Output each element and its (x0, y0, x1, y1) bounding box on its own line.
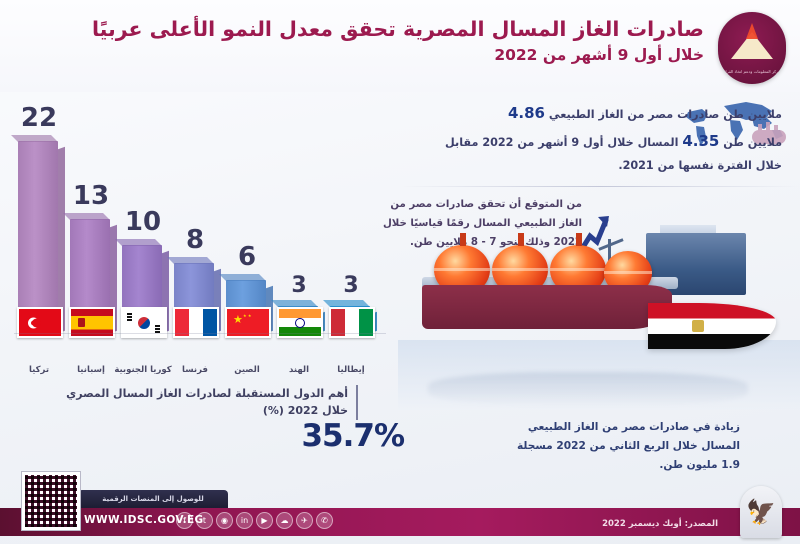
bar-category-label: إيطاليا (320, 365, 382, 376)
stat-top-text-c: ملايين طن (723, 136, 782, 149)
stat-bottom-line1: زيادة في صادرات مصر من الغاز الطبيعي (410, 418, 740, 437)
section-divider (400, 186, 800, 187)
bar-top (219, 274, 266, 281)
ship-crane-arm-icon (598, 238, 623, 251)
header: صادرات الغاز المسال المصرية تحقق معدل ال… (0, 0, 800, 92)
bar-chart: 22تركيا13إسبانيا10كوريا الجنوبية8فرنسا6ا… (0, 92, 398, 452)
stat-middle-line1: من المتوقع أن تحقق صادرات مصر من (362, 196, 582, 215)
stat-bottom-line2: المسال خلال الربع الثاني من 2022 مسجلة (410, 437, 740, 456)
lng-tanker-ship (398, 225, 800, 410)
facebook-icon[interactable]: f (176, 512, 193, 529)
bar-top (167, 257, 214, 264)
infographic-page: صادرات الغاز المسال المصرية تحقق معدل ال… (0, 0, 800, 544)
page-title: صادرات الغاز المسال المصرية تحقق معدل ال… (104, 18, 704, 64)
source-label: المصدر: أوبك ديسمبر 2022 (602, 519, 718, 529)
logo-caption: مركز المعلومات ودعم اتخاذ القرار (718, 69, 786, 75)
stat-bottom-percent: 35.7% (301, 418, 404, 454)
qr-code-icon[interactable] (22, 472, 80, 530)
bar-value-label: 22 (9, 103, 69, 133)
stat-top-block: ملايين طن صادرات مصر من الغاز الطبيعي 4.… (362, 100, 782, 176)
soundcloud-icon[interactable]: ☁ (276, 512, 293, 529)
stat-top-value-current: 4.86 (508, 104, 545, 122)
chart-baseline (14, 333, 386, 334)
bar-group: 22تركيا13إسبانيا10كوريا الجنوبية8فرنسا6ا… (14, 102, 384, 332)
title-main: صادرات الغاز المسال المصرية تحقق معدل ال… (104, 18, 704, 42)
idsc-logo: مركز المعلومات ودعم اتخاذ القرار (718, 12, 786, 84)
twitter-icon[interactable]: t (196, 512, 213, 529)
footer: للوصول إلى المنصات الرقمية WWW.IDSC.GOV.… (0, 488, 800, 544)
digital-platforms-tab[interactable]: للوصول إلى المنصات الرقمية (78, 490, 228, 508)
bar-value-label: 10 (113, 207, 173, 237)
bar-value-label: 6 (217, 242, 277, 272)
egypt-eagle-emblem: 🦅 (740, 486, 782, 538)
bar-top (271, 300, 318, 307)
bar-turkey (18, 141, 58, 332)
stat-top-text-b: المسال خلال أول 9 أشهر من 2022 مقابل (445, 136, 678, 149)
bar-top (63, 213, 110, 220)
eagle-icon: 🦅 (746, 500, 776, 524)
flame-icon (746, 23, 758, 39)
egypt-flag (648, 303, 776, 349)
chart-caption: أهم الدول المستقبلة لصادرات الغاز المسال… (38, 385, 358, 420)
bar-face (18, 141, 58, 332)
instagram-icon[interactable]: ◉ (216, 512, 233, 529)
bar-value-label: 3 (269, 273, 329, 298)
stat-top-text-d: خلال الفترة نفسها من 2021. (362, 156, 782, 177)
bar-value-label: 3 (321, 273, 381, 298)
bar-value-label: 8 (165, 225, 225, 255)
telegram-icon[interactable]: ✈ (296, 512, 313, 529)
bar-value-label: 13 (61, 181, 121, 211)
social-links[interactable]: ft◉in▶☁✈✆ (176, 512, 333, 529)
bar-top (11, 135, 58, 142)
stat-top-text-a: ملايين طن صادرات مصر من الغاز الطبيعي (549, 108, 782, 121)
water-reflection (428, 372, 748, 406)
youtube-icon[interactable]: ▶ (256, 512, 273, 529)
stat-bottom-block: زيادة في صادرات مصر من الغاز الطبيعي الم… (410, 418, 740, 475)
ship-hull (422, 285, 672, 329)
stat-top-value-previous: 4.35 (682, 132, 719, 150)
bar-top (323, 300, 370, 307)
bar-side (58, 147, 65, 334)
linkedin-icon[interactable]: in (236, 512, 253, 529)
whatsapp-icon[interactable]: ✆ (316, 512, 333, 529)
title-subtitle: خلال أول 9 أشهر من 2022 (104, 47, 704, 64)
stat-bottom-line3: 1.9 مليون طن. (410, 456, 740, 475)
bar-top (115, 239, 162, 246)
